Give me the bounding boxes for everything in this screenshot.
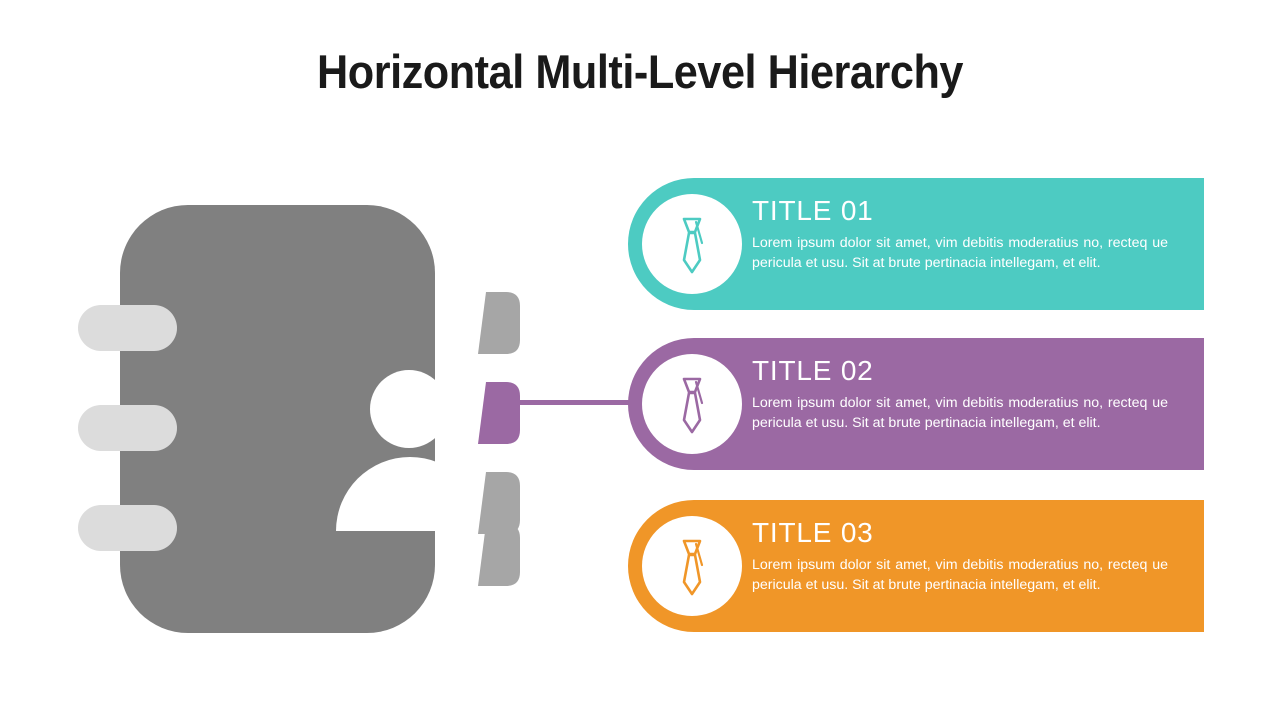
necktie-icon	[671, 376, 713, 436]
hierarchy-card-1[interactable]: TITLE 01 Lorem ipsum dolor sit amet, vim…	[628, 178, 1204, 310]
card-text-block: TITLE 03 Lorem ipsum dolor sit amet, vim…	[752, 516, 1168, 595]
contact-book-graphic	[75, 205, 475, 635]
person-body-icon	[336, 457, 484, 531]
card-title: TITLE 03	[752, 516, 1168, 550]
page-title: Horizontal Multi-Level Hierarchy	[51, 44, 1229, 99]
book-tab-2[interactable]	[78, 405, 177, 451]
card-text-block: TITLE 01 Lorem ipsum dolor sit amet, vim…	[752, 194, 1168, 273]
connector-line	[510, 400, 638, 405]
card-icon-circle	[642, 516, 742, 616]
card-title: TITLE 01	[752, 194, 1168, 228]
person-head-icon	[370, 370, 448, 448]
card-description: Lorem ipsum dolor sit amet, vim debitis …	[752, 393, 1168, 433]
connector-tab-1[interactable]	[478, 292, 520, 354]
connector-tab-2-active[interactable]	[478, 382, 520, 444]
card-text-block: TITLE 02 Lorem ipsum dolor sit amet, vim…	[752, 354, 1168, 433]
hierarchy-card-3[interactable]: TITLE 03 Lorem ipsum dolor sit amet, vim…	[628, 500, 1204, 632]
hierarchy-card-2[interactable]: TITLE 02 Lorem ipsum dolor sit amet, vim…	[628, 338, 1204, 470]
card-icon-circle	[642, 354, 742, 454]
connector-tab-4[interactable]	[478, 524, 520, 586]
card-icon-circle	[642, 194, 742, 294]
connector-tab-column	[478, 292, 523, 560]
card-title: TITLE 02	[752, 354, 1168, 388]
book-tab-1[interactable]	[78, 305, 177, 351]
necktie-icon	[671, 538, 713, 598]
necktie-icon	[671, 216, 713, 276]
book-tab-3[interactable]	[78, 505, 177, 551]
card-description: Lorem ipsum dolor sit amet, vim debitis …	[752, 555, 1168, 595]
card-description: Lorem ipsum dolor sit amet, vim debitis …	[752, 233, 1168, 273]
